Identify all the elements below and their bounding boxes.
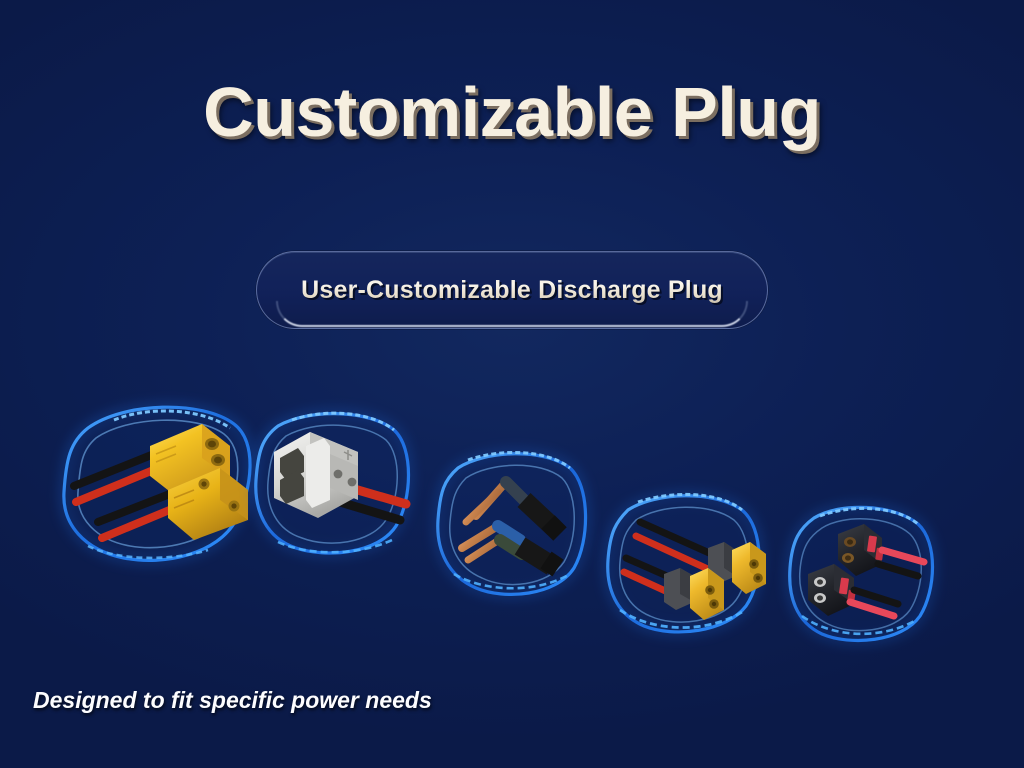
connector-capsule-1[interactable] xyxy=(52,398,267,578)
connector-capsule-2[interactable] xyxy=(248,404,423,569)
badge-label: User-Customizable Discharge Plug xyxy=(256,251,768,329)
connector-capsule-5[interactable] xyxy=(778,498,953,648)
connector-capsule-4[interactable] xyxy=(598,480,783,642)
connector-capsule-3[interactable] xyxy=(428,442,608,614)
footer-caption: Designed to fit specific power needs xyxy=(33,687,432,714)
page-title: Customizable Plug xyxy=(0,72,1024,152)
slide-canvas: Customizable Plug User-Customizable Disc… xyxy=(0,0,1024,768)
badge-subtitle[interactable]: User-Customizable Discharge Plug User-Cu… xyxy=(256,251,768,329)
